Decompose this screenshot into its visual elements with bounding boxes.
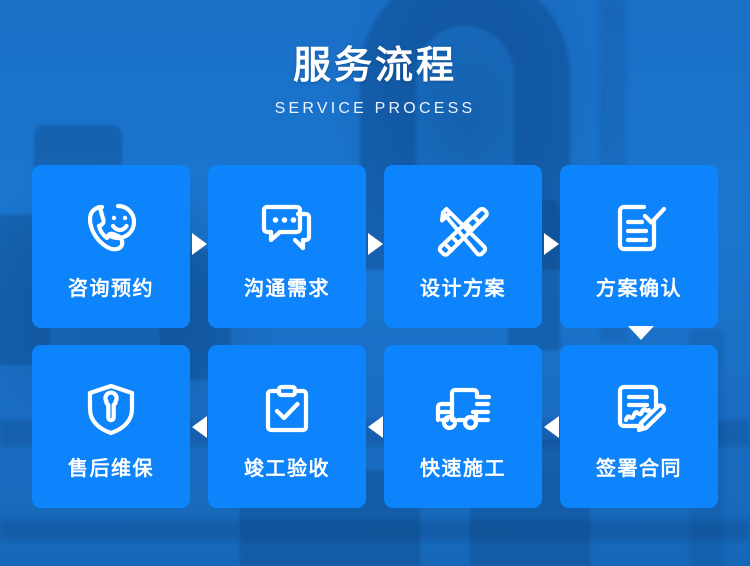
process-card-label: 咨询预约 [68, 279, 154, 299]
arrow-left-icon [192, 416, 207, 438]
process-card-design[interactable]: 设计方案 [384, 165, 542, 328]
process-card-consultation[interactable]: 咨询预约 [32, 165, 190, 328]
process-card-requirements[interactable]: 沟通需求 [208, 165, 366, 328]
process-card-plan-confirmation[interactable]: 方案确认 [560, 165, 718, 328]
header: 服务流程 SERVICE PROCESS [0, 44, 750, 118]
clipboard-check-icon [251, 373, 323, 445]
process-card-construction[interactable]: 快速施工 [384, 345, 542, 508]
process-card-after-sales[interactable]: 售后维保 [32, 345, 190, 508]
arrow-left-icon [544, 416, 559, 438]
process-card-label: 快速施工 [420, 459, 506, 479]
process-card-label: 沟通需求 [244, 279, 330, 299]
process-card-label: 设计方案 [420, 279, 506, 299]
arrow-left-icon [368, 416, 383, 438]
process-card-sign-contract[interactable]: 签署合同 [560, 345, 718, 508]
arrow-right-icon [192, 233, 207, 255]
delivery-truck-icon [427, 373, 499, 445]
arrow-right-icon [544, 233, 559, 255]
shield-wrench-icon [75, 373, 147, 445]
document-check-icon [603, 193, 675, 265]
page-subtitle: SERVICE PROCESS [0, 100, 750, 118]
process-card-label: 售后维保 [68, 459, 154, 479]
process-card-label: 竣工验收 [244, 459, 330, 479]
arrow-down-icon [628, 326, 654, 340]
process-card-acceptance[interactable]: 竣工验收 [208, 345, 366, 508]
pencil-ruler-icon [427, 193, 499, 265]
process-card-label: 签署合同 [596, 459, 682, 479]
service-process-infographic: 服务流程 SERVICE PROCESS 咨询预约 [0, 0, 750, 566]
contract-pen-icon [603, 373, 675, 445]
page-title: 服务流程 [0, 44, 750, 89]
arrow-right-icon [368, 233, 383, 255]
phone-smiley-icon [75, 193, 147, 265]
process-card-label: 方案确认 [596, 279, 682, 299]
chat-bubbles-icon [251, 193, 323, 265]
